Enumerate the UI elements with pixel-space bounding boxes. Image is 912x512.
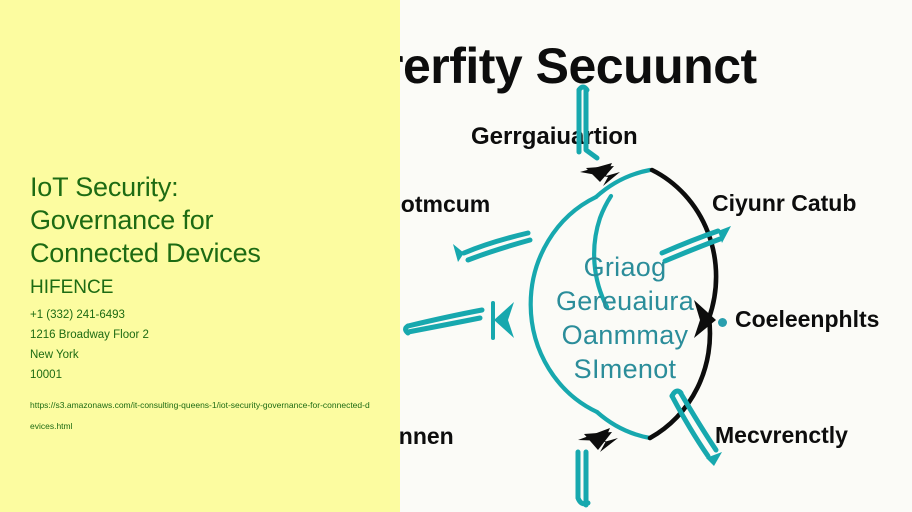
left-panel-content: IoT Security: Governance for Connected D… bbox=[30, 171, 375, 437]
contact-address-line: 1216 Broadway Floor 2 bbox=[30, 325, 375, 345]
node-label-left-top: 3otmcum bbox=[400, 190, 490, 218]
contact-zip: 10001 bbox=[30, 365, 375, 385]
right-illustration-panel: rerfity Secuunct Gerrgaiuartion bbox=[400, 0, 912, 512]
page-title: IoT Security: Governance for Connected D… bbox=[30, 171, 375, 270]
contact-phone: +1 (332) 241-6493 bbox=[30, 305, 375, 325]
node-label-right-bottom: Mecvrenctly bbox=[715, 421, 848, 449]
cycle-center-text: Griaog Gereuaiura Oanmmay SImenot bbox=[510, 250, 740, 386]
contact-city: New York bbox=[30, 345, 375, 365]
node-label-right-top: Ciyunr Catub bbox=[712, 189, 856, 217]
source-url[interactable]: https://s3.amazonaws.com/it-consulting-q… bbox=[30, 395, 370, 437]
brand-name: HIFENCE bbox=[30, 277, 375, 299]
arrow-down-icon bbox=[578, 452, 588, 505]
arrow-left-icon bbox=[406, 310, 483, 333]
left-info-panel: IoT Security: Governance for Connected D… bbox=[0, 0, 400, 512]
arrow-up-icon bbox=[579, 87, 597, 158]
node-label-right-middle: Coeleenphlts bbox=[735, 305, 879, 333]
node-label-left-bottom: annen bbox=[400, 422, 454, 450]
circle-bottom-arrowhead-icon bbox=[578, 428, 618, 452]
screenshot-canvas: IoT Security: Governance for Connected D… bbox=[0, 0, 912, 512]
bullet-dot-icon bbox=[718, 318, 727, 327]
